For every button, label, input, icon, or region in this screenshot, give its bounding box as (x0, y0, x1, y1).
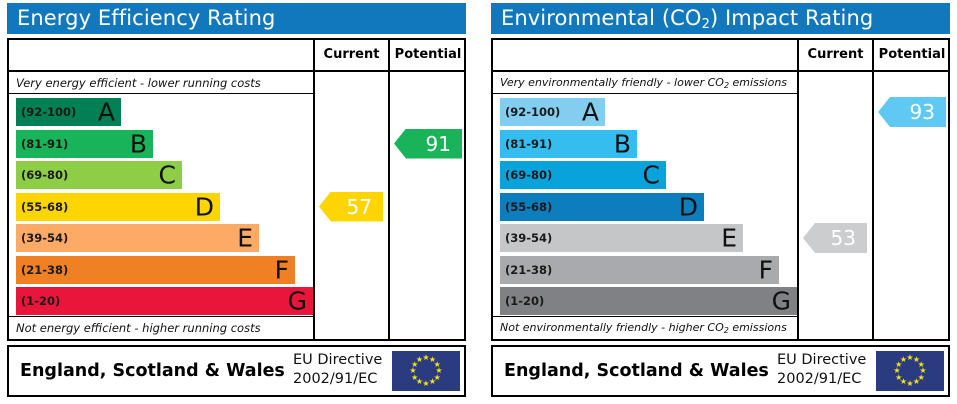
band-letter-label: E (237, 226, 253, 251)
band-range-label: (1-20) (500, 294, 544, 308)
eu-flag-star: ★ (422, 380, 429, 388)
band-letter-label: F (275, 257, 289, 282)
footer-directive-line2: 2002/91/EC (777, 370, 887, 389)
column-divider-current (797, 40, 799, 339)
band-range-label: (69-80) (16, 168, 68, 182)
rating-band-g: (1-20)G (500, 287, 797, 315)
footer-country: England, Scotland & Wales (504, 347, 769, 395)
chart-title: Environmental (CO2) Impact Rating (491, 3, 950, 34)
energy-efficiency-rating-chart: Energy Efficiency Rating Current Potenti… (0, 0, 473, 404)
rating-band-d: (55-68)D (16, 193, 220, 221)
chart-footer: England, Scotland & Wales EU Directive 2… (7, 345, 466, 397)
caption-bottom-subscript: 2 (724, 326, 729, 335)
column-header-potential: Potential (874, 40, 950, 70)
rating-band-g: (1-20)G (16, 287, 313, 315)
column-divider-current (313, 40, 315, 339)
rating-bands: (92-100)A(81-91)B(69-80)C(55-68)D(39-54)… (9, 95, 313, 316)
band-range-label: (21-38) (16, 263, 68, 277)
rating-band-a: (92-100)A (500, 98, 605, 126)
column-divider-potential (388, 40, 390, 339)
rating-band-b: (81-91)B (500, 130, 637, 158)
rating-table: Current Potential Very environmentally f… (491, 38, 950, 341)
band-range-label: (55-68) (16, 200, 68, 214)
caption-bottom-text: Not environmentally friendly - higher CO (500, 321, 724, 334)
band-letter-label: D (195, 194, 214, 219)
band-letter-label: B (130, 131, 147, 156)
footer-directive: EU Directive 2002/91/EC (777, 351, 887, 389)
band-letter-label: F (759, 257, 773, 282)
chart-title: Energy Efficiency Rating (7, 3, 466, 34)
rating-band-f: (21-38)F (16, 256, 295, 284)
band-range-label: (81-91) (500, 137, 552, 151)
current-rating-value: 57 (347, 195, 372, 219)
current-rating-arrow: 53 (803, 223, 867, 253)
band-letter-label: G (772, 289, 791, 314)
caption-top-suffix: emissions (729, 76, 787, 89)
rating-bands: (92-100)A(81-91)B(69-80)C(55-68)D(39-54)… (493, 95, 797, 316)
band-range-label: (39-54) (500, 231, 552, 245)
band-range-label: (92-100) (16, 105, 76, 119)
band-range-label: (1-20) (16, 294, 60, 308)
footer-directive: EU Directive 2002/91/EC (293, 351, 403, 389)
band-letter-label: E (721, 226, 737, 251)
rating-band-d: (55-68)D (500, 193, 704, 221)
rating-band-a: (92-100)A (16, 98, 121, 126)
rating-table: Current Potential Very energy efficient … (7, 38, 466, 341)
footer-directive-line2: 2002/91/EC (293, 370, 403, 389)
chart-title-text: Environmental (CO (501, 6, 702, 30)
band-letter-label: C (643, 163, 660, 188)
footer-directive-line1: EU Directive (777, 351, 887, 370)
band-range-label: (55-68) (500, 200, 552, 214)
column-header-current: Current (315, 40, 388, 70)
chart-title-text: Energy Efficiency Rating (17, 6, 275, 30)
chart-title-suffix: ) Impact Rating (710, 6, 873, 30)
band-range-label: (69-80) (500, 168, 552, 182)
band-letter-label: B (614, 131, 631, 156)
eu-flag-star: ★ (906, 380, 913, 388)
eu-flag-icon: ★★★★★★★★★★★★ (392, 351, 460, 391)
band-range-label: (39-54) (16, 231, 68, 245)
potential-rating-value: 91 (426, 132, 451, 156)
caption-top: Very environmentally friendly - lower CO… (493, 72, 797, 94)
rating-band-e: (39-54)E (16, 224, 259, 252)
potential-rating-value: 93 (910, 100, 935, 124)
caption-bottom-text: Not energy efficient - higher running co… (16, 321, 261, 335)
caption-top-text: Very energy efficient - lower running co… (16, 76, 261, 90)
band-letter-label: A (98, 100, 115, 125)
rating-band-f: (21-38)F (500, 256, 779, 284)
rating-band-c: (69-80)C (500, 161, 666, 189)
band-letter-label: A (582, 100, 599, 125)
chart-title-subscript: 2 (702, 17, 710, 32)
band-letter-label: G (288, 289, 307, 314)
column-header-potential: Potential (390, 40, 466, 70)
footer-country: England, Scotland & Wales (20, 347, 285, 395)
caption-top: Very energy efficient - lower running co… (9, 72, 313, 94)
column-header-current: Current (799, 40, 872, 70)
eu-flag-star: ★ (416, 356, 423, 364)
rating-band-b: (81-91)B (16, 130, 153, 158)
eu-flag-star: ★ (913, 378, 920, 386)
potential-rating-arrow: 91 (394, 129, 462, 159)
rating-band-c: (69-80)C (16, 161, 182, 189)
eu-flag-icon: ★★★★★★★★★★★★ (876, 351, 944, 391)
caption-bottom-suffix: emissions (729, 321, 787, 334)
band-range-label: (92-100) (500, 105, 560, 119)
caption-bottom: Not environmentally friendly - higher CO… (493, 316, 797, 339)
potential-rating-arrow: 93 (878, 97, 946, 127)
current-rating-arrow: 57 (319, 192, 383, 222)
caption-bottom: Not energy efficient - higher running co… (9, 316, 313, 339)
band-letter-label: C (159, 163, 176, 188)
caption-top-text: Very environmentally friendly - lower CO (500, 76, 724, 89)
caption-top-subscript: 2 (724, 81, 729, 90)
footer-directive-line1: EU Directive (293, 351, 403, 370)
environmental-co2-impact-rating-chart: Environmental (CO2) Impact Rating Curren… (484, 0, 957, 404)
eu-flag-star: ★ (900, 356, 907, 364)
epc-charts-page: Energy Efficiency Rating Current Potenti… (0, 0, 957, 404)
column-divider-potential (872, 40, 874, 339)
rating-band-e: (39-54)E (500, 224, 743, 252)
band-range-label: (81-91) (16, 137, 68, 151)
eu-flag-star: ★ (429, 378, 436, 386)
band-letter-label: D (679, 194, 698, 219)
chart-footer: England, Scotland & Wales EU Directive 2… (491, 345, 950, 397)
band-range-label: (21-38) (500, 263, 552, 277)
current-rating-value: 53 (831, 226, 856, 250)
